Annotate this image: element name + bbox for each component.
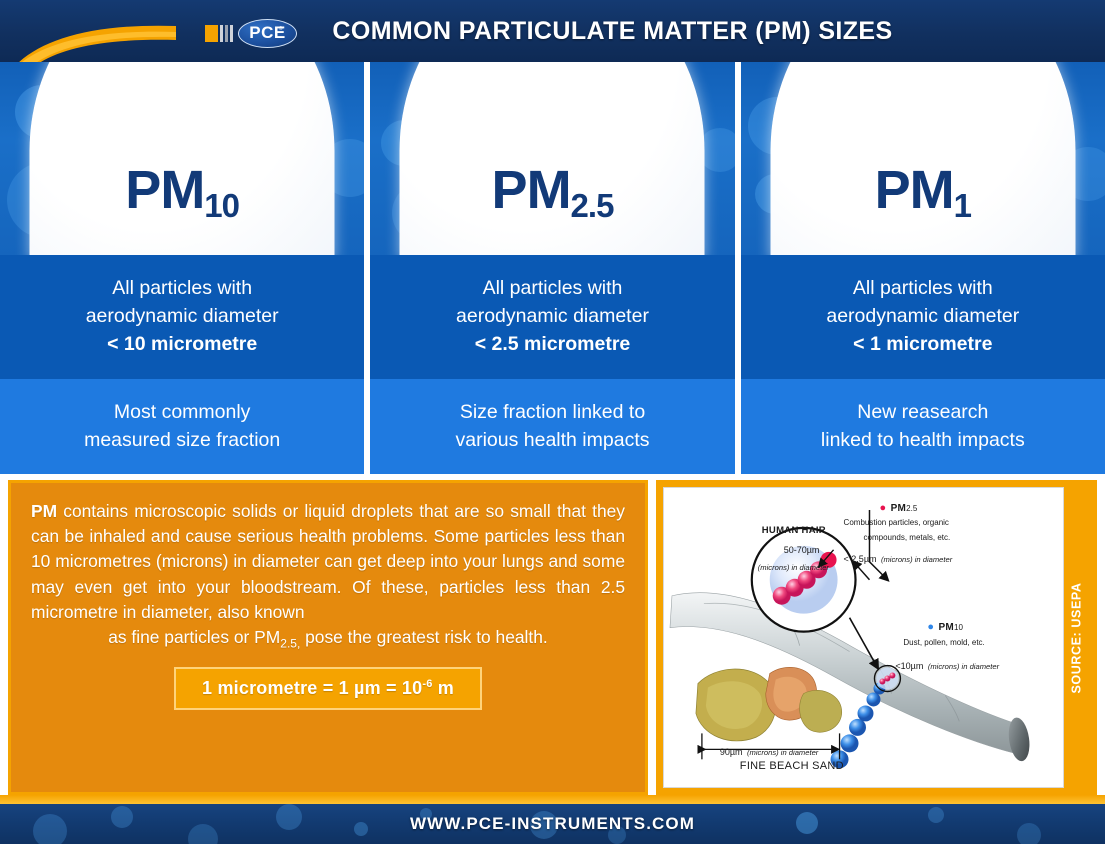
pm-label-pm25: PM2.5 — [370, 163, 734, 217]
note-line-2: various health impacts — [455, 427, 649, 455]
last-line-a: as fine particles or PM — [108, 627, 280, 647]
hair-label-size: 50-70µm — [784, 545, 820, 555]
source-attribution: SOURCE: USEPA — [1064, 487, 1090, 788]
card-description-pm25: All particles with aerodynamic diameter … — [370, 255, 734, 379]
pm-paragraph: PM contains microscopic solids or liquid… — [31, 499, 625, 653]
pm10-desc-line1: Dust, pollen, mold, etc. — [903, 638, 984, 647]
sand-note: (microns) in diameter — [747, 748, 818, 757]
note-line-2: measured size fraction — [84, 427, 280, 455]
pm-label-sub: 2.5 — [571, 187, 614, 224]
logo-bars-icon — [205, 23, 233, 43]
sand-size-row: 90µm (microns) in diameter — [720, 742, 818, 760]
infographic-root: PCE ® COMMON PARTICULATE MATTER (PM) SIZ… — [0, 0, 1105, 838]
pm-label-sub: 10 — [204, 187, 239, 224]
card-note-pm25: Size fraction linked to various health i… — [370, 379, 734, 474]
desc-line-2: aerodynamic diameter — [86, 303, 279, 331]
card-description-pm1: All particles with aerodynamic diameter … — [741, 255, 1105, 379]
desc-line-2: aerodynamic diameter — [826, 303, 1019, 331]
hair-label-note: (microns) in diameter — [758, 563, 829, 572]
last-line-b: pose the greatest risk to health. — [300, 627, 547, 647]
page-title: COMMON PARTICULATE MATTER (PM) SIZES — [0, 17, 1105, 46]
pm-cards-row: PM10 All particles with aerodynamic diam… — [0, 62, 1105, 474]
desc-line-3: < 10 micrometre — [107, 331, 257, 359]
dome-shape — [400, 62, 705, 255]
desc-line-1: All particles with — [112, 275, 252, 303]
formula-part-a: 1 micrometre = 1 µm = 10 — [202, 678, 422, 698]
pm-label-main: PM — [492, 160, 571, 220]
sand-label-title: FINE BEACH SAND — [740, 760, 844, 772]
card-description-pm10: All particles with aerodynamic diameter … — [0, 255, 364, 379]
card-note-pm1: New reasearch linked to health impacts — [741, 379, 1105, 474]
desc-line-3: < 1 micrometre — [853, 331, 992, 359]
note-line-1: New reasearch — [857, 399, 988, 427]
pm-card-pm1: PM1 All particles with aerodynamic diame… — [741, 62, 1105, 474]
pm10-title-text: PM — [938, 622, 954, 633]
bottom-section: PM contains microscopic solids or liquid… — [0, 474, 1105, 795]
desc-line-3: < 2.5 micrometre — [475, 331, 631, 359]
pm25-desc-line2: compounds, metals, etc. — [864, 533, 951, 542]
last-line-subscript: 2.5, — [280, 637, 300, 651]
pm25-size: < 2.5µm — [844, 554, 877, 564]
pm10-label-title: ● PM10 — [927, 617, 963, 635]
micrometre-formula-box: 1 micrometre = 1 µm = 10-6 m — [174, 667, 482, 710]
paragraph-lead: PM — [31, 501, 57, 521]
usepa-diagram-panel: HUMAN HAIR 50-70µm (microns) in diameter… — [656, 480, 1097, 795]
orange-divider-strip — [0, 795, 1105, 804]
note-line-2: linked to health impacts — [821, 427, 1025, 455]
note-line-1: Most commonly — [114, 399, 251, 427]
pm10-size-row: <10µm (microns) in diameter — [895, 656, 999, 674]
pm10-size: <10µm — [895, 661, 923, 671]
paragraph-last-line: as fine particles or PM2.5, pose the gre… — [31, 625, 625, 653]
pm25-title-text: PM — [891, 503, 907, 514]
particle-size-diagram: HUMAN HAIR 50-70µm (microns) in diameter… — [663, 487, 1064, 788]
sand-size: 90µm — [720, 747, 743, 757]
source-text: SOURCE: USEPA — [1070, 582, 1084, 693]
website-url[interactable]: WWW.PCE-INSTRUMENTS.COM — [410, 814, 695, 834]
note-line-1: Size fraction linked to — [460, 399, 645, 427]
pm-label-main: PM — [875, 160, 954, 220]
header-bar: PCE ® COMMON PARTICULATE MATTER (PM) SIZ… — [0, 0, 1105, 62]
pm-label-pm10: PM10 — [0, 163, 364, 217]
desc-line-1: All particles with — [483, 275, 623, 303]
pm-card-pm10: PM10 All particles with aerodynamic diam… — [0, 62, 364, 474]
pm25-title-sub: 2.5 — [906, 504, 917, 513]
hair-label-title: HUMAN HAIR — [762, 525, 826, 536]
desc-line-2: aerodynamic diameter — [456, 303, 649, 331]
card-dome-pm25: PM2.5 — [370, 62, 734, 255]
pce-logo: PCE ® — [205, 16, 297, 50]
pm-label-sub: 1 — [954, 187, 971, 224]
pm-label-main: PM — [125, 160, 204, 220]
dome-shape — [770, 62, 1075, 255]
logo-oval: PCE ® — [238, 19, 297, 48]
pm-label-pm1: PM1 — [741, 163, 1105, 217]
dome-shape — [30, 62, 335, 255]
pm25-label-title: ● PM2.5 — [879, 498, 917, 516]
logo-registered-mark: ® — [279, 26, 283, 32]
card-note-pm10: Most commonly measured size fraction — [0, 379, 364, 474]
formula-part-b: m — [433, 678, 454, 698]
pm25-note: (microns) in diameter — [881, 555, 952, 564]
desc-line-1: All particles with — [853, 275, 993, 303]
paragraph-body: contains microscopic solids or liquid dr… — [31, 501, 625, 622]
pm25-size-row: < 2.5µm (microns) in diameter — [844, 549, 953, 567]
pm25-desc-line1: Combustion particles, organic — [844, 518, 949, 527]
card-dome-pm1: PM1 — [741, 62, 1105, 255]
footer-bar: WWW.PCE-INSTRUMENTS.COM — [0, 804, 1105, 844]
pm-card-pm25: PM2.5 All particles with aerodynamic dia… — [370, 62, 734, 474]
pm10-note: (microns) in diameter — [928, 662, 999, 671]
pm-description-panel: PM contains microscopic solids or liquid… — [8, 480, 648, 795]
pm10-title-sub: 10 — [954, 623, 963, 632]
formula-exponent: -6 — [422, 678, 432, 690]
card-dome-pm10: PM10 — [0, 62, 364, 255]
